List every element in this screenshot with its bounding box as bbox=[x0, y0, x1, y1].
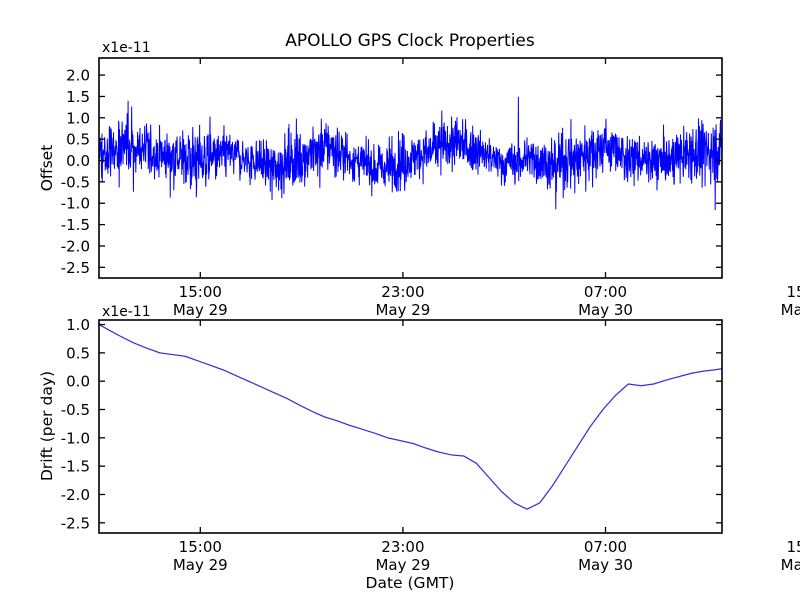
x-tick-label: 15:00 bbox=[786, 538, 800, 556]
y-tick-label: -0.5 bbox=[61, 401, 90, 419]
y-tick-label: 1.5 bbox=[66, 88, 90, 106]
x-tick-label: May 30 bbox=[578, 556, 633, 574]
chart-title: APOLLO GPS Clock Properties bbox=[285, 31, 535, 51]
drift-y-axis-label: Drift (per day) bbox=[38, 371, 56, 481]
offset-exponent-label: x1e-11 bbox=[102, 40, 151, 56]
x-tick-label: May 29 bbox=[375, 556, 430, 574]
y-tick-label: 0.5 bbox=[66, 131, 90, 149]
y-tick-label: 0.0 bbox=[66, 152, 90, 170]
x-tick-label: May 30 bbox=[781, 556, 800, 574]
y-tick-label: 0.0 bbox=[66, 373, 90, 391]
y-tick-label: 0.5 bbox=[66, 344, 90, 362]
x-tick-label: May 29 bbox=[173, 301, 228, 319]
y-tick-label: 2.0 bbox=[66, 67, 90, 85]
x-tick-label: 23:00 bbox=[381, 538, 424, 556]
x-tick-label: 07:00 bbox=[584, 538, 627, 556]
x-tick-label: 15:00 bbox=[786, 283, 800, 301]
x-tick-label: 07:00 bbox=[584, 283, 627, 301]
y-tick-label: -1.0 bbox=[61, 195, 90, 213]
x-tick-label: 15:00 bbox=[179, 283, 222, 301]
y-tick-label: -2.0 bbox=[61, 486, 90, 504]
matplotlib-figure: APOLLO GPS Clock Properties x1e-11 2.01.… bbox=[0, 0, 800, 600]
x-tick-label: 23:00 bbox=[381, 283, 424, 301]
x-tick-label: May 30 bbox=[781, 301, 800, 319]
y-tick-label: -1.0 bbox=[61, 429, 90, 447]
x-tick-label: May 30 bbox=[578, 301, 633, 319]
drift-exponent-label: x1e-11 bbox=[102, 304, 151, 320]
x-tick-label: 15:00 bbox=[179, 538, 222, 556]
y-tick-label: -2.5 bbox=[61, 259, 90, 277]
y-tick-label: 1.0 bbox=[66, 109, 90, 127]
y-tick-label: -1.5 bbox=[61, 216, 90, 234]
y-tick-label: -1.5 bbox=[61, 458, 90, 476]
drift-x-axis-label: Date (GMT) bbox=[366, 574, 455, 592]
figure-canvas: APOLLO GPS Clock Properties x1e-11 2.01.… bbox=[0, 0, 800, 600]
x-tick-label: May 29 bbox=[375, 301, 430, 319]
y-tick-label: -2.5 bbox=[61, 514, 90, 532]
y-tick-label: 1.0 bbox=[66, 316, 90, 334]
x-tick-label: May 29 bbox=[173, 556, 228, 574]
y-tick-label: -2.0 bbox=[61, 237, 90, 255]
y-tick-label: -0.5 bbox=[61, 173, 90, 191]
offset-y-axis-label: Offset bbox=[38, 145, 56, 192]
